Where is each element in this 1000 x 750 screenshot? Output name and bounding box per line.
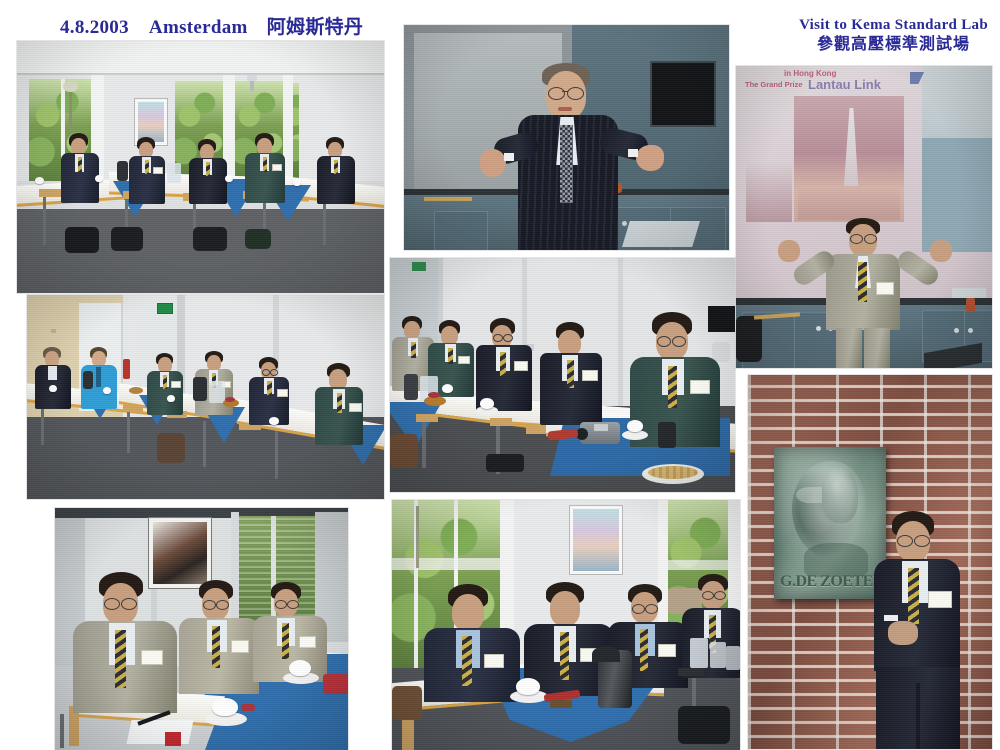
speaker (496, 63, 646, 250)
glasses-icon (203, 600, 216, 610)
title-city-chinese: 阿姆斯特丹 (267, 17, 364, 38)
glasses-icon (567, 87, 584, 100)
glasses-icon (702, 591, 714, 600)
glasses-icon (914, 535, 930, 547)
person (179, 580, 259, 692)
person (61, 133, 99, 211)
title-date: 4.8.2003 (60, 17, 129, 38)
slide-line-prize: The Grand Prize (745, 80, 803, 89)
person (540, 322, 602, 426)
photo-lantau-link-presentation: in Hong Kong The Grand Prize Lantau Link (736, 66, 992, 368)
glasses-icon (850, 234, 863, 244)
glasses-icon (216, 600, 229, 610)
glasses-icon (121, 598, 137, 610)
photo-speaker-presenting (404, 25, 729, 250)
person (245, 133, 285, 211)
photo-meeting-room-left (27, 295, 384, 499)
wall-picture (570, 506, 622, 574)
glasses-icon (287, 600, 299, 609)
photo-delegates-center (390, 258, 735, 492)
title-right: Visit to Kema Standard Lab 參觀高壓標準測試場 (799, 16, 988, 55)
wall-monitor (650, 61, 716, 127)
title-city: Amsterdam (149, 17, 248, 38)
glasses-icon (714, 591, 726, 600)
glasses-icon (548, 87, 565, 100)
glasses-icon (104, 598, 120, 610)
person (189, 139, 227, 211)
exit-sign (157, 303, 173, 314)
glasses-icon (897, 535, 913, 547)
notepad (126, 720, 193, 744)
glasses-icon (493, 334, 503, 342)
person (35, 347, 71, 419)
photo-four-delegates (392, 500, 740, 750)
glasses-icon (864, 234, 877, 244)
person (424, 584, 520, 696)
glasses-icon (275, 600, 287, 609)
person (73, 572, 177, 708)
glasses-icon (632, 604, 645, 614)
photo-collage-page: 4.8.2003 Amsterdam 阿姆斯特丹 Visit to Kema S… (0, 0, 1000, 750)
person (317, 137, 355, 211)
photo-three-delegates (55, 508, 348, 750)
slide-line-title: Lantau Link (808, 77, 881, 92)
glasses-icon (503, 334, 513, 342)
glasses-icon (645, 604, 658, 614)
person (147, 353, 183, 423)
presenter (794, 218, 936, 368)
standing-delegate (866, 511, 972, 749)
person (315, 363, 363, 453)
person (129, 137, 165, 211)
glasses-icon (672, 336, 686, 347)
glasses-icon (657, 336, 671, 347)
photo-plaque-portrait: G.DE ZOETEN (748, 375, 992, 749)
title-right-line2: 參觀高壓標準測試場 (799, 35, 988, 55)
title-right-line1: Visit to Kema Standard Lab (799, 16, 988, 35)
title-left: 4.8.2003 Amsterdam 阿姆斯特丹 (60, 16, 363, 40)
photo-meeting-room-wide (17, 41, 384, 293)
